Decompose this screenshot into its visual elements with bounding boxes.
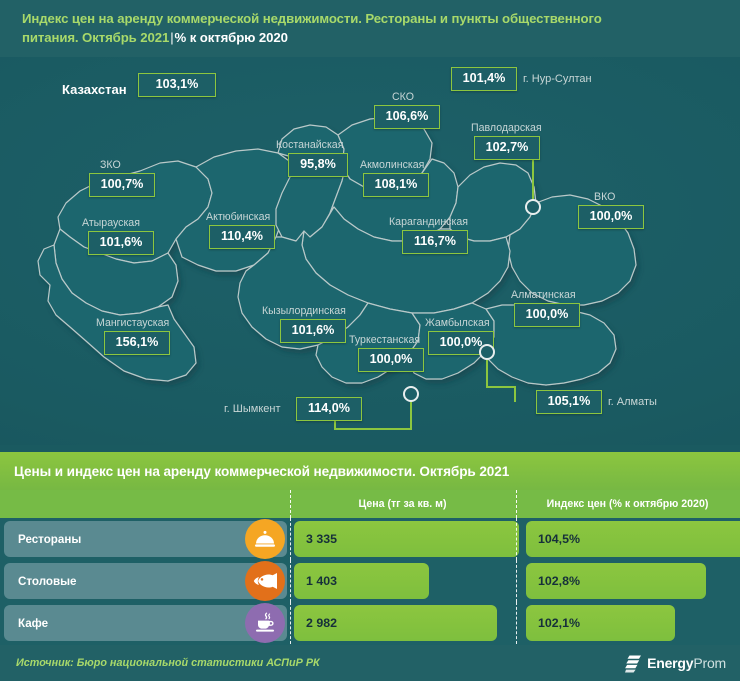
cell-index-cafes: 102,1% [526, 602, 740, 644]
cell-index-canteens: 102,8% [526, 560, 740, 602]
map-value-akmolinskaya[interactable]: 108,1% [363, 173, 429, 197]
table-header-price: Цена (тг за кв. м) [290, 490, 515, 518]
map-value-mangistauskaya[interactable]: 156,1% [104, 331, 170, 355]
row-label-text: Столовые [18, 575, 76, 588]
row-divider-2 [516, 518, 517, 560]
header-comparison: % к октябрю 2020 [175, 30, 288, 45]
map-value-aktyubinskaya[interactable]: 110,4% [209, 225, 275, 249]
table-row[interactable]: Рестораны 3 335 104,5% [0, 518, 740, 560]
map-value-karagandinskaya[interactable]: 116,7% [402, 230, 468, 254]
energyprom-mark-icon [625, 654, 642, 673]
infographic-page: Индекс цен на аренду коммерческой недвиж… [0, 0, 740, 681]
map-label-nur-sultan: г. Нур-Султан [523, 74, 592, 85]
map-label-zhambylskaya: Жамбылская [425, 318, 490, 329]
energyprom-logo-text: EnergyProm [647, 655, 726, 671]
map-value-turkestanskaya[interactable]: 100,0% [358, 348, 424, 372]
logo-prom: Prom [693, 655, 726, 671]
header-period: питания. Октябрь 2021 [22, 30, 169, 45]
row-label-canteens: Столовые [4, 563, 287, 599]
price-bar: 2 982 [294, 605, 497, 641]
map-label-kyzylordinskaya: Кызылординская [262, 306, 346, 317]
row-divider-2 [516, 560, 517, 602]
map-label-mangistauskaya: Мангистауская [96, 318, 169, 329]
city-marker-almaty[interactable] [479, 344, 495, 360]
header-title-line1: Индекс цен на аренду коммерческой недвиж… [22, 9, 720, 28]
map-label-vko: ВКО [594, 192, 615, 203]
table-header-spacer [0, 490, 290, 518]
energyprom-logo[interactable]: EnergyProm [625, 654, 726, 673]
map-label-aktyubinskaya: Актюбинская [206, 212, 270, 223]
index-bar: 102,8% [526, 563, 706, 599]
index-bar: 104,5% [526, 521, 740, 557]
price-bar: 3 335 [294, 521, 519, 557]
cell-price-cafes: 2 982 [294, 602, 519, 644]
food-cloche-glyph [253, 527, 277, 551]
row-label-text: Рестораны [18, 533, 81, 546]
map-value-sko[interactable]: 106,6% [374, 105, 440, 129]
row-divider-1 [290, 518, 291, 560]
map-value-atyrauskaya[interactable]: 101,6% [88, 231, 154, 255]
price-table: Цена (тг за кв. м) Индекс цен (% к октяб… [0, 490, 740, 645]
map-label-almatinskaya: Алматинская [511, 290, 576, 301]
page-header: Индекс цен на аренду коммерческой недвиж… [0, 0, 740, 57]
map-label-almaty: г. Алматы [608, 397, 657, 408]
source-text: Источник: Бюро национальной статистики А… [16, 657, 320, 669]
city-marker-nur-sultan[interactable] [525, 199, 541, 215]
cell-price-restaurants: 3 335 [294, 518, 519, 560]
table-header-row: Цена (тг за кв. м) Индекс цен (% к октяб… [0, 490, 740, 518]
index-bar: 102,1% [526, 605, 675, 641]
map-value-almaty[interactable]: 105,1% [536, 390, 602, 414]
map-label-kostanayskaya: Костанайская [276, 140, 343, 151]
cell-index-restaurants: 104,5% [526, 518, 740, 560]
table-row[interactable]: Столовые 1 403 102,8% [0, 560, 740, 602]
map-value-kostanayskaya[interactable]: 95,8% [288, 153, 348, 177]
row-divider-2 [516, 602, 517, 644]
map-value-nur-sultan[interactable]: 101,4% [451, 67, 517, 91]
map-value-pavlodarskaya[interactable]: 102,7% [474, 136, 540, 160]
map-value-kazakhstan[interactable]: 103,1% [138, 73, 216, 97]
header-divider-1 [290, 490, 291, 518]
cell-price-canteens: 1 403 [294, 560, 519, 602]
price-value: 1 403 [306, 574, 337, 588]
index-value: 102,1% [538, 616, 580, 630]
fish-icon [245, 561, 285, 601]
map-value-zko[interactable]: 100,7% [89, 173, 155, 197]
map-value-vko[interactable]: 100,0% [578, 205, 644, 229]
table-row[interactable]: Кафе 2 982 102,1% [0, 602, 740, 644]
map-label-turkestanskaya: Туркестанская [349, 335, 420, 346]
map-label-karagandinskaya: Карагандинская [389, 217, 468, 228]
row-divider-1 [290, 560, 291, 602]
map-label-zko: ЗКО [100, 160, 121, 171]
page-footer: Источник: Бюро национальной статистики А… [0, 645, 740, 681]
table-banner: Цены и индекс цен на аренду коммерческой… [0, 452, 740, 490]
map-value-kyzylordinskaya[interactable]: 101,6% [280, 319, 346, 343]
price-value: 2 982 [306, 616, 337, 630]
table-header-index: Индекс цен (% к октябрю 2020) [515, 490, 740, 518]
map-label-pavlodarskaya: Павлодарская [471, 123, 542, 134]
coffee-cup-icon [245, 603, 285, 643]
row-label-text: Кафе [18, 617, 48, 630]
row-label-cafes: Кафе [4, 605, 287, 641]
city-marker-shymkent[interactable] [403, 386, 419, 402]
price-value: 3 335 [306, 532, 337, 546]
fish-glyph [252, 571, 278, 591]
price-bar: 1 403 [294, 563, 429, 599]
map-label-kazakhstan: Казахстан [62, 83, 127, 96]
kazakhstan-map-panel: Казахстан 103,1% ЗКО 100,7% Атырауская 1… [0, 57, 740, 445]
index-value: 102,8% [538, 574, 580, 588]
map-label-atyrauskaya: Атырауская [82, 218, 140, 229]
map-label-akmolinskaya: Акмолинская [360, 160, 424, 171]
header-divider-2 [516, 490, 517, 518]
logo-energy: Energy [647, 655, 693, 671]
map-label-shymkent: г. Шымкент [224, 404, 281, 415]
coffee-cup-glyph [253, 611, 277, 635]
header-title-line2: питания. Октябрь 2021|% к октябрю 2020 [22, 28, 720, 47]
table-banner-title: Цены и индекс цен на аренду коммерческой… [14, 464, 509, 479]
map-label-sko: СКО [392, 92, 414, 103]
row-label-restaurants: Рестораны [4, 521, 287, 557]
row-divider-1 [290, 602, 291, 644]
food-cloche-icon [245, 519, 285, 559]
map-value-almatinskaya[interactable]: 100,0% [514, 303, 580, 327]
map-value-shymkent[interactable]: 114,0% [296, 397, 362, 421]
index-value: 104,5% [538, 532, 580, 546]
